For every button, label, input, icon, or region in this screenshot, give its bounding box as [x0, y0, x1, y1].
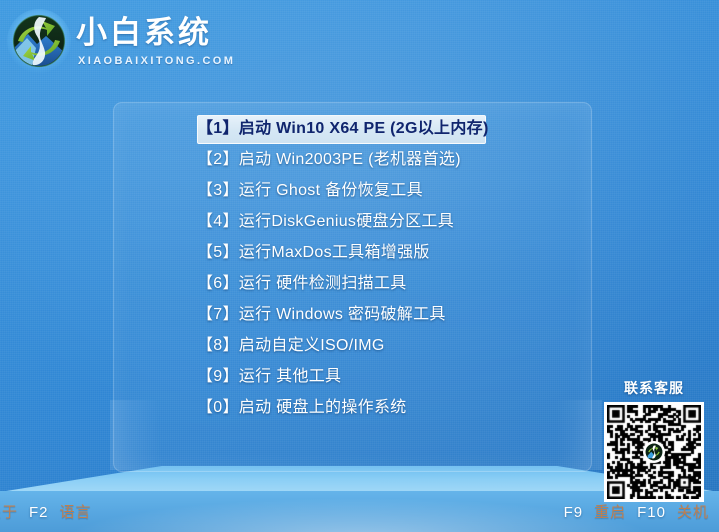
menu-item-3[interactable]: 【3】运行 Ghost 备份恢复工具 — [114, 175, 591, 206]
menu-item-label: 【7】运行 Windows 密码破解工具 — [197, 299, 446, 330]
boot-menu-screen: 小白系统 XIAOBAIXITONG.COM 【1】启动 Win10 X64 P… — [0, 0, 719, 532]
footer-hotkeys-left: 关于F2语言 — [0, 503, 92, 523]
contact-support-label: 联系客服 — [600, 378, 708, 398]
menu-item-4[interactable]: 【4】运行DiskGenius硬盘分区工具 — [114, 206, 591, 237]
menu-item-label: 【6】运行 硬件检测扫描工具 — [197, 268, 407, 299]
menu-item-label: 【2】启动 Win2003PE (老机器首选) — [197, 144, 461, 175]
brand-logo: 小白系统 XIAOBAIXITONG.COM — [4, 4, 244, 82]
right-hotkey-key-0[interactable]: F9 — [564, 504, 584, 521]
menu-item-label: 【4】运行DiskGenius硬盘分区工具 — [197, 206, 454, 237]
boot-menu-list: 【1】启动 Win10 X64 PE (2G以上内存)【2】启动 Win2003… — [114, 113, 591, 423]
right-hotkey-key-1[interactable]: F10 — [637, 504, 666, 521]
boot-menu-panel: 【1】启动 Win10 X64 PE (2G以上内存)【2】启动 Win2003… — [113, 102, 592, 472]
menu-item-9[interactable]: 【9】运行 其他工具 — [114, 361, 591, 392]
brand-subtitle: XIAOBAIXITONG.COM — [78, 54, 235, 68]
footer-hotkeys-right: F9重启F10关机 — [564, 503, 709, 523]
right-hotkey-label-1[interactable]: 关机 — [677, 504, 709, 521]
contact-support-block: 联系客服 — [600, 378, 708, 502]
left-hotkey-key-1[interactable]: F2 — [29, 504, 49, 521]
right-hotkey-label-0[interactable]: 重启 — [594, 504, 626, 521]
menu-item-label: 【5】运行MaxDos工具箱增强版 — [197, 237, 430, 268]
menu-item-6[interactable]: 【6】运行 硬件检测扫描工具 — [114, 268, 591, 299]
menu-item-2[interactable]: 【2】启动 Win2003PE (老机器首选) — [114, 144, 591, 175]
menu-item-label: 【1】启动 Win10 X64 PE (2G以上内存) — [197, 113, 489, 144]
menu-item-label: 【9】运行 其他工具 — [197, 361, 341, 392]
menu-item-5[interactable]: 【5】运行MaxDos工具箱增强版 — [114, 237, 591, 268]
menu-item-1[interactable]: 【1】启动 Win10 X64 PE (2G以上内存) — [114, 113, 591, 144]
left-hotkey-label-0[interactable]: 关于 — [0, 504, 18, 521]
menu-item-label: 【0】启动 硬盘上的操作系统 — [197, 392, 407, 423]
brand-title: 小白系统 — [76, 16, 212, 50]
qr-center-logo-icon — [643, 441, 665, 463]
qr-code-icon[interactable] — [604, 402, 704, 502]
menu-item-10[interactable]: 【0】启动 硬盘上的操作系统 — [114, 392, 591, 423]
menu-item-8[interactable]: 【8】启动自定义ISO/IMG — [114, 330, 591, 361]
menu-item-label: 【8】启动自定义ISO/IMG — [197, 330, 385, 361]
menu-item-7[interactable]: 【7】运行 Windows 密码破解工具 — [114, 299, 591, 330]
left-hotkey-label-1[interactable]: 语言 — [60, 504, 92, 521]
recycle-globe-logo-icon — [6, 8, 72, 74]
menu-item-label: 【3】运行 Ghost 备份恢复工具 — [197, 175, 423, 206]
